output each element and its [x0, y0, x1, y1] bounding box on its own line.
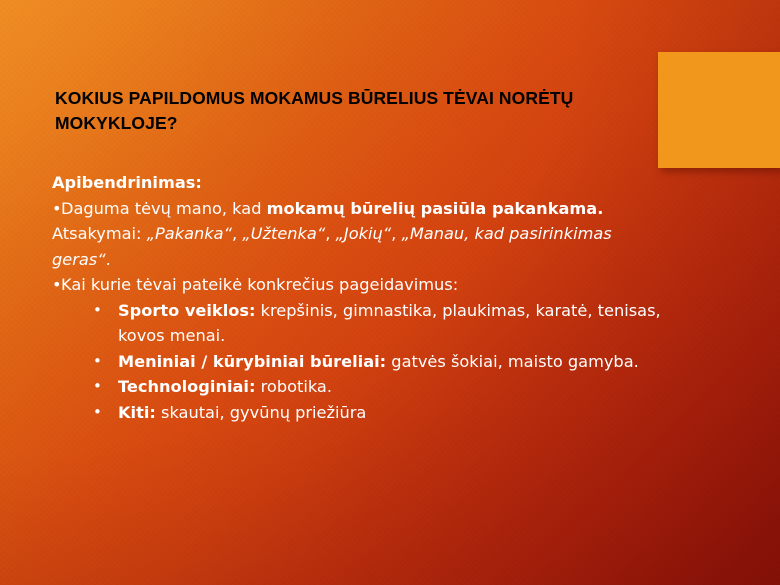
slide-body: Apibendrinimas: •Daguma tėvų mano, kad m… [52, 170, 672, 425]
bullet-item-2: •Kai kurie tėvai pateikė konkrečius page… [52, 272, 672, 298]
sub-item-label: Technologiniai: [118, 377, 255, 396]
bullet-item-1: •Daguma tėvų mano, kad mokamų būrelių pa… [52, 196, 672, 222]
sub-item-value: skautai, gyvūnų priežiūra [156, 403, 366, 422]
slide-title: KOKIUS PAPILDOMUS MOKAMUS BŪRELIUS TĖVAI… [55, 86, 655, 136]
list-item: •Sporto veiklos: krepšinis, gimnastika, … [52, 298, 672, 349]
list-item: •Meniniai / kūrybiniai būreliai: gatvės … [52, 349, 672, 375]
bullet-2-text: Kai kurie tėvai pateikė konkrečius pagei… [61, 275, 458, 294]
sub-item-value: gatvės šokiai, maisto gamyba. [386, 352, 639, 371]
body-lead: Apibendrinimas: [52, 170, 672, 196]
bullet-1-continuation: Atsakymai: „Pakanka“, „Užtenka“, „Jokių“… [52, 221, 672, 272]
sub-bullet-dot-icon: • [93, 400, 102, 426]
bullet-dot-icon: • [52, 196, 62, 222]
sub-bullet-dot-icon: • [93, 349, 102, 375]
bullet-1-text-bold: mokamų būrelių pasiūla pakankama. [267, 199, 604, 218]
sub-bullet-dot-icon: • [93, 374, 102, 400]
answer-quote-2: „Užtenka“ [242, 224, 325, 243]
list-item: •Kiti: skautai, gyvūnų priežiūra [52, 400, 672, 426]
bullet-dot-icon: • [52, 272, 62, 298]
answer-quote-3: „Jokių“ [336, 224, 392, 243]
sub-bullet-dot-icon: • [93, 298, 102, 324]
answer-sep-1: , [232, 224, 242, 243]
sub-bullet-list: •Sporto veiklos: krepšinis, gimnastika, … [52, 298, 672, 426]
sub-item-value: robotika. [255, 377, 332, 396]
sub-item-label: Meniniai / kūrybiniai būreliai: [118, 352, 386, 371]
answer-period: . [106, 250, 111, 269]
accent-rectangle [658, 52, 780, 168]
answer-quote-1: „Pakanka“ [147, 224, 232, 243]
slide-canvas: KOKIUS PAPILDOMUS MOKAMUS BŪRELIUS TĖVAI… [0, 0, 780, 585]
bullet-1-text-plain: Daguma tėvų mano, kad [61, 199, 267, 218]
answers-label: Atsakymai: [52, 224, 147, 243]
sub-item-label: Sporto veiklos: [118, 301, 255, 320]
list-item: •Technologiniai: robotika. [52, 374, 672, 400]
answer-sep-2: , [325, 224, 335, 243]
sub-item-label: Kiti: [118, 403, 156, 422]
answer-sep-3: , [391, 224, 401, 243]
